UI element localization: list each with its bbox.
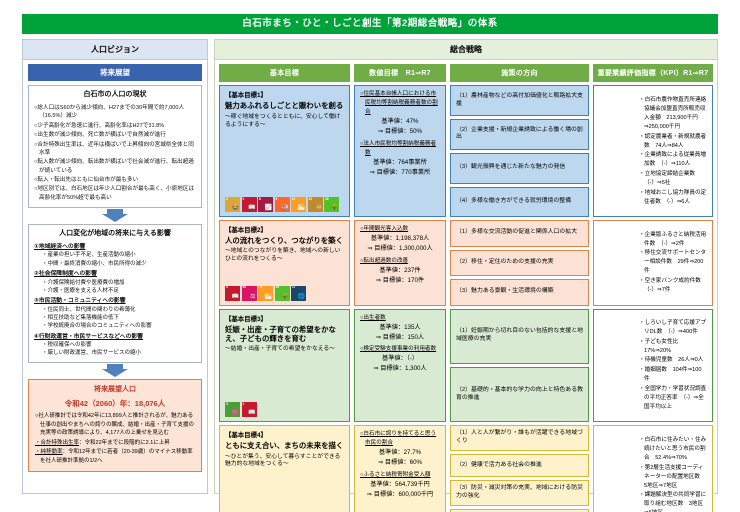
numeric-target-cell[interactable]: ○年間観光客入込数基準値：1,198,378人⇒ 目標値：1,300,000人○… (354, 220, 446, 306)
sdg-goal-11-icon: 11🏙 (258, 286, 273, 301)
kpi-cell[interactable]: ・企業版ふるさと納税活用件数 （-）⇒2件・移住交流サポートセンター相談件数 2… (593, 220, 713, 306)
sdg-icon-row: 2🍲4📖8📈9🏭11🏙12♾15🌳 (225, 197, 344, 212)
sdg-glyph: 🌐 (298, 294, 305, 300)
sdg-number: 10 (243, 286, 247, 289)
numeric-target-item: ○年間観光客入込数基準値：1,198,378人⇒ 目標値：1,300,000人 (360, 225, 440, 254)
numeric-target-label: ○法人市民税均等割納税義務者数 (360, 140, 440, 158)
impact-section-item: ・厳しい財政運営、市民サービスの縮小 (34, 349, 196, 357)
kpi-item: ・企業誘致による従業員増加数 （-）⇒110人 (639, 151, 707, 169)
impact-section-head: ③市民活動・コミュニティへの影響 (34, 297, 196, 306)
population-vision-column: 人口ビジョン 将来展望 白石市の人口の現状 ○総人口はS60から減少傾向、H27… (22, 39, 208, 494)
sdg-glyph: 🏙 (297, 205, 305, 211)
basic-goal-subtitle: ～稼ぐ地域をつくるとともに、安心して働けるようにする～ (225, 114, 344, 130)
comprehensive-strategy-column: 総合戦略 基本目標 数値目標 R1⇒R7 施策の方向 重要業績評価指標（KPI）… (214, 39, 718, 494)
basic-goal-cell[interactable]: 【基本目標1】魅力あふれるしごとと賑わいを創る～稼ぐ地域をつくるとともに、安心し… (219, 85, 350, 217)
basic-goal-title: ともに支え合い、まちの未来を描く (225, 441, 344, 450)
document-page: 白石市まち・ひと・しごと創生「第2期総合戦略」の体系 人口ビジョン 将来展望 白… (0, 0, 740, 512)
sdg-number: 8 (259, 198, 261, 201)
current-population-item: ○出生数が減少傾向、死亡数が横ばいで自然減が進行 (34, 131, 196, 139)
kpi-item: ・空き家バンク成約件数 （-）⇒7件 (639, 277, 707, 295)
population-vision-header: 人口ビジョン (23, 40, 207, 60)
sdg-number: 4 (243, 198, 245, 201)
numeric-target-baseline: 基準値：764事業所 (360, 158, 440, 168)
sdg-goal-10-icon: 10⚖ (242, 286, 257, 301)
policy-direction-item[interactable]: （1）多様な交流活動の促進と関係人口の拡大 (450, 220, 589, 247)
kpi-item: ・立地協定締結企業数 （-）⇒5社 (639, 170, 707, 188)
current-population-title: 白石市の人口の現状 (34, 90, 196, 101)
sdg-glyph: 🍲 (232, 205, 239, 211)
sdg-number: 4 (226, 286, 228, 289)
sdg-goal-12-icon: 12♾ (308, 197, 323, 212)
sdg-icon-row: 4📖10⚖11🏙15🌳17🌐 (225, 286, 344, 301)
future-population-value: 令和42（2060）年：18,076人 (35, 398, 195, 410)
sdg-glyph: 🏭 (281, 205, 288, 211)
sdg-glyph: 🌳 (331, 205, 338, 211)
current-population-panel: 白石市の人口の現状 ○総人口はS60から減少傾向、H27までの30年間で約7,0… (28, 85, 202, 208)
sdg-icon-row: 3💓4📖 (225, 402, 344, 417)
impact-section-head: ④行財政運営・市民サービスなどへの影響 (34, 333, 196, 342)
basic-goal-title: 魅力あふれるしごとと賑わいを創る (225, 101, 344, 110)
kpi-item: ・移住交流サポートセンター相談件数 29件⇒200件 (639, 249, 707, 276)
numeric-target-label: ○検定受験支援事業の利用者数 (360, 345, 440, 354)
basic-goal-number: 【基本目標3】 (225, 314, 344, 323)
kpi-item: ・子ども女性比 17%⇒20% (639, 338, 707, 356)
numeric-target-goal: ⇒ 目標値：170件 (360, 276, 440, 286)
policy-direction-item[interactable]: （3）観光振興を通じた新たな魅力の発信 (450, 153, 589, 184)
kpi-item: ・白石市農作物直売所連絡協議会加盟直売所販売収入金額 213,900千円⇒250… (639, 96, 707, 132)
impact-title: 人口変化が地域の将来に与える影響 (34, 229, 196, 240)
numeric-target-baseline: 基準値：27.7% (360, 448, 440, 458)
future-note-text: ：令和12年までに若者（20-39歳）のマイナス移動率を社人研推計準拠の1/2へ (40, 449, 193, 464)
basic-goal-cell[interactable]: 【基本目標4】ともに支え合い、まちの未来を描く～ひとが集う、安心して暮らすことが… (219, 425, 350, 512)
policy-direction-cell: （1）妊娠期から切れ目のない包括的な支援と地域医療の充実（2）基礎的・基本的な学… (450, 309, 589, 423)
numeric-target-label: ○ふるさと納税寄附金受入額 (360, 471, 440, 480)
kpi-item: ・白石市に住みたい・住み続けたいと思う市民の割合 52.4%⇒70% (639, 436, 707, 463)
policy-direction-item[interactable]: （2）健康で活力ある社会の推進 (450, 454, 589, 477)
impact-sections: ①地域経済への影響・産業の担い手不足、生産活動の縮小・中間・最終消費の縮小、市民… (34, 243, 196, 358)
strategy-column-headers: 基本目標 数値目標 R1⇒R7 施策の方向 重要業績評価指標（KPI）R1⇒R7 (215, 60, 717, 85)
numeric-target-goal: ⇒ 目標値：600,000千円 (360, 490, 440, 500)
sdg-number: 12 (309, 198, 313, 201)
sdg-goal-15-icon: 15🌳 (275, 286, 290, 301)
numeric-target-item: ○法人市民税均等割納税義務者数基準値：764事業所⇒ 目標値：770事業所 (360, 140, 440, 178)
policy-direction-item[interactable]: （3）魅力ある景観・生活環境の構築 (450, 279, 589, 306)
future-population-items: ○社人研推計では令和42年に13,899人と推計されるが、魅力ある仕事の創出やま… (35, 412, 195, 438)
policy-direction-cell: （1）人と人が繋がり・誰もが活躍できる地域づくり（2）健康で活力ある社会の推進（… (450, 425, 589, 512)
impact-section: ①地域経済への影響・産業の担い手不足、生産活動の縮小・中間・最終消費の縮小、市民… (34, 243, 196, 268)
basic-goal-subtitle: ～ひとが集う、安心して暮らすことができる魅力的な地域をつくる～ (225, 454, 344, 470)
sdg-glyph: ♾ (316, 205, 321, 211)
numeric-target-cell[interactable]: ○住民基本台帳人口における市民税均等割納税義務者数の割合基準値：47%⇒ 目標値… (354, 85, 446, 217)
basic-goal-cell[interactable]: 【基本目標2】人の流れをつくり、つながりを築く～地域とのつながりを築き、地域への… (219, 220, 350, 306)
column-header-kpi: 重要業績評価指標（KPI）R1⇒R7 (593, 64, 713, 82)
future-population-item: ○社人研推計では令和42年に13,899人と推計されるが、魅力ある仕事の創出やま… (35, 412, 195, 438)
impact-section: ④行財政運営・市民サービスなどへの影響・税収確保への影響・厳しい財政運営、市民サ… (34, 333, 196, 358)
strategy-row: 【基本目標2】人の流れをつくり、つながりを築く～地域とのつながりを築き、地域への… (219, 220, 713, 306)
numeric-target-item: ○白石市に誇りを持てると思う市民の割合基準値：27.7%⇒ 目標値：60% (360, 430, 440, 468)
numeric-target-item: ○出生者数基準値：135人⇒ 目標値：150人 (360, 314, 440, 343)
numeric-target-baseline: 基準値：47% (360, 117, 440, 127)
sdg-goal-4-icon: 4📖 (242, 402, 257, 417)
future-note-label: ・純移動率 (35, 449, 63, 455)
basic-goal-number: 【基本目標4】 (225, 430, 344, 439)
sdg-goal-17-icon: 17🌐 (291, 286, 306, 301)
policy-direction-item[interactable]: （1）妊娠期から切れ目のない包括的な支援と地域医療の充実 (450, 309, 589, 364)
basic-goal-title: 妊娠・出産・子育ての希望をかなえ、子どもの輝きを育む (225, 325, 344, 344)
kpi-item: ・全国学力・学習状況調査の平均正答率 （-）⇒全国平均以上 (639, 385, 707, 412)
future-note-label: ・合計特殊出生率 (35, 440, 79, 446)
policy-direction-item[interactable]: （2）企業支援・新規企業誘致による働く場の創出 (450, 119, 589, 150)
impact-section-item: ・産業の担い手不足、生産活動の縮小 (34, 251, 196, 259)
kpi-list: ・しろいし子育て応援アプリDL数 （-）⇒400件・子ども女性比 17%⇒20%… (599, 319, 707, 411)
policy-direction-item[interactable]: （2）移住・定住のための支援の充実 (450, 250, 589, 277)
numeric-target-cell[interactable]: ○白石市に誇りを持てると思う市民の割合基準値：27.7%⇒ 目標値：60%○ふる… (354, 425, 446, 512)
impact-section-item: ・学校統廃合の場合のコミュニティへの影響 (34, 322, 196, 330)
future-population-panel: 将来展望人口 令和42（2060）年：18,076人 ○社人研推計では令和42年… (28, 379, 202, 473)
policy-direction-item[interactable]: （3）防災・減災対策の充実、地域における防災力の強化 (450, 480, 589, 506)
future-population-note: ・合計特殊出生率：令和22年までに段階的に2.1に上昇 (35, 439, 195, 448)
flow-arrow-1 (28, 208, 202, 224)
basic-goal-subtitle: ～地域とのつながりを築き、地域への新しいひとの流れをつくる～ (225, 248, 344, 264)
numeric-target-baseline: 基準値：237件 (360, 266, 440, 276)
kpi-list: ・白石市農作物直売所連絡協議会加盟直売所販売収入金額 213,900千円⇒250… (599, 96, 707, 207)
sdg-number: 2 (226, 198, 228, 201)
policy-direction-item[interactable]: （1）人と人が繋がり・誰もが活躍できる地域づくり (450, 425, 589, 451)
future-population-note: ・純移動率：令和12年までに若者（20-39歳）のマイナス移動率を社人研推計準拠… (35, 448, 195, 465)
strategy-row: 【基本目標4】ともに支え合い、まちの未来を描く～ひとが集う、安心して暮らすことが… (219, 425, 713, 512)
sdg-goal-9-icon: 9🏭 (275, 197, 290, 212)
sdg-glyph: 📈 (265, 205, 272, 211)
sdg-goal-15-icon: 15🌳 (324, 197, 339, 212)
sdg-number: 11 (259, 286, 262, 289)
numeric-target-label: ○出生者数 (360, 314, 440, 323)
impact-section: ③市民活動・コミュニティへの影響・住民同士、世代間の関わりの希薄化・相互扶助など… (34, 297, 196, 330)
sdg-goal-4-icon: 4📖 (225, 286, 240, 301)
impact-section-item: ・相互扶助など集落機能の低下 (34, 314, 196, 322)
content-shell: 人口ビジョン 将来展望 白石市の人口の現状 ○総人口はS60から減少傾向、H27… (22, 39, 718, 494)
strategy-row: 【基本目標3】妊娠・出産・子育ての希望をかなえ、子どもの輝きを育む～結婚・出産・… (219, 309, 713, 423)
sdg-glyph: 🏙 (264, 294, 272, 300)
numeric-target-baseline: 基準値：135人 (360, 323, 440, 333)
kpi-cell[interactable]: ・白石市農作物直売所連絡協議会加盟直売所販売収入金額 213,900千円⇒250… (593, 85, 713, 217)
basic-goal-subtitle: ～結婚・出産・子育ての希望をかなえる～ (225, 346, 344, 354)
numeric-target-baseline: 基準値：564,739千円 (360, 480, 440, 490)
kpi-cell[interactable]: ・白石市に住みたい・住み続けたいと思う市民の割合 52.4%⇒70%・第2層生活… (593, 425, 713, 512)
strategy-row: 【基本目標1】魅力あふれるしごとと賑わいを創る～稼ぐ地域をつくるとともに、安心し… (219, 85, 713, 217)
kpi-item: ・企業版ふるさと納税活用件数 （-）⇒2件 (639, 231, 707, 249)
sdg-glyph: 📖 (232, 294, 239, 300)
numeric-target-label: ○転出超過数の改善 (360, 257, 440, 266)
basic-goal-number: 【基本目標1】 (225, 90, 344, 99)
sdg-number: 15 (276, 286, 280, 289)
sdg-number: 9 (276, 198, 278, 201)
numeric-target-goal: ⇒ 目標値：1,300人 (360, 364, 440, 374)
sdg-glyph: 📖 (248, 205, 255, 211)
kpi-item: ・地域おこし協力隊員の定住者数 （-）⇒6人 (639, 189, 707, 207)
page-title: 白石市まち・ひと・しごと創生「第2期総合戦略」の体系 (22, 14, 718, 34)
comprehensive-strategy-header: 総合戦略 (215, 40, 717, 60)
impact-section-item: ・税収確保への影響 (34, 341, 196, 349)
kpi-item: ・婚姻届数 104件⇒100件 (639, 366, 707, 384)
sdg-goal-11-icon: 11🏙 (291, 197, 306, 212)
current-population-item: ○転入・転出先はともに仙台市が最も多い (34, 176, 196, 184)
numeric-target-item: ○転出超過数の改善基準値：237件⇒ 目標値：170件 (360, 257, 440, 286)
numeric-target-goal: ⇒ 目標値：770事業所 (360, 168, 440, 178)
numeric-target-item: ○検定受験支援事業の利用者数基準値：（-）⇒ 目標値：1,300人 (360, 345, 440, 374)
numeric-target-goal: ⇒ 目標値：150人 (360, 333, 440, 343)
sdg-glyph: 💓 (232, 410, 239, 416)
numeric-target-goal: ⇒ 目標値：60% (360, 458, 440, 468)
numeric-target-label: ○白石市に誇りを持てると思う市民の割合 (360, 430, 440, 448)
kpi-list: ・白石市に住みたい・住み続けたいと思う市民の割合 52.4%⇒70%・第2層生活… (599, 436, 707, 512)
sdg-number: 3 (226, 403, 228, 406)
sdg-glyph: 🌳 (281, 294, 288, 300)
sdg-goal-8-icon: 8📈 (258, 197, 273, 212)
sdg-glyph: 📖 (248, 410, 255, 416)
population-vision-body: 将来展望 白石市の人口の現状 ○総人口はS60から減少傾向、H27までの30年間… (23, 60, 207, 493)
column-header-numeric-target: 数値目標 R1⇒R7 (354, 64, 446, 82)
sdg-number: 11 (292, 198, 295, 201)
basic-goal-cell[interactable]: 【基本目標3】妊娠・出産・子育ての希望をかなえ、子どもの輝きを育む～結婚・出産・… (219, 309, 350, 423)
numeric-target-cell[interactable]: ○出生者数基準値：135人⇒ 目標値：150人○検定受験支援事業の利用者数基準値… (354, 309, 446, 423)
numeric-target-item: ○ふるさと納税寄附金受入額基準値：564,739千円⇒ 目標値：600,000千… (360, 471, 440, 500)
current-population-item: ○少子高齢化が急速に進行、高齢化率はH27で31.8% (34, 122, 196, 130)
numeric-target-baseline: 基準値：1,198,378人 (360, 234, 440, 244)
future-outlook-bar: 将来展望 (28, 64, 202, 81)
kpi-list: ・企業版ふるさと納税活用件数 （-）⇒2件・移住交流サポートセンター相談件数 2… (599, 231, 707, 295)
sdg-number: 15 (325, 198, 329, 201)
numeric-target-item: ○住民基本台帳人口における市民税均等割納税義務者数の割合基準値：47%⇒ 目標値… (360, 90, 440, 137)
impact-section-item: ・介護保険給付費や医療費の増加 (34, 279, 196, 287)
strategy-rows: 【基本目標1】魅力あふれるしごとと賑わいを創る～稼ぐ地域をつくるとともに、安心し… (215, 85, 717, 512)
sdg-number: 4 (243, 403, 245, 406)
column-header-basic-goal: 基本目標 (219, 64, 350, 82)
current-population-list: ○総人口はS60から減少傾向、H27までの30年間で約7,000人（16.5%）… (34, 104, 196, 202)
policy-direction-cell: （1）農林産物などの高付加価値化と販路拡大支援（2）企業支援・新規企業誘致による… (450, 85, 589, 217)
kpi-item: ・待機児童数 26人⇒0人 (639, 356, 707, 365)
column-header-policy-direction: 施策の方向 (450, 64, 589, 82)
sdg-goal-4-icon: 4📖 (242, 197, 257, 212)
numeric-target-label: ○年間観光客入込数 (360, 225, 440, 234)
numeric-target-goal: ⇒ 目標値：1,300,000人 (360, 244, 440, 254)
numeric-target-baseline: 基準値：（-） (360, 354, 440, 364)
kpi-item: ・課題解決型の共同学習に取り組む地区数 3地区⇒6地区 (639, 491, 707, 512)
policy-direction-cell: （1）多様な交流活動の促進と関係人口の拡大（2）移住・定住のための支援の充実（3… (450, 220, 589, 306)
basic-goal-number: 【基本目標2】 (225, 225, 344, 234)
current-population-item: ○合計特殊出生率は、近年は横ばいで上昇傾向の宮城県全体と同水準 (34, 141, 196, 158)
impact-section: ②社会保障制度への影響・介護保険給付費や医療費の増加・介護・医療を支える人材不足 (34, 270, 196, 295)
future-population-notes: ・合計特殊出生率：令和22年までに段階的に2.1に上昇・純移動率：令和12年まで… (35, 439, 195, 466)
impact-section-item: ・介護・医療を支える人材不足 (34, 287, 196, 295)
policy-direction-item[interactable]: （2）基礎的・基本的な学力の向上と特色ある教育の推進 (450, 367, 589, 422)
policy-direction-item[interactable]: （4）多様な働き方ができる就労環境の整備 (450, 187, 589, 218)
sdg-glyph: ⚖ (250, 294, 255, 300)
impact-panel: 人口変化が地域の将来に与える影響 ①地域経済への影響・産業の担い手不足、生産活動… (28, 224, 202, 363)
impact-section-head: ②社会保障制度への影響 (34, 270, 196, 279)
numeric-target-label: ○住民基本台帳人口における市民税均等割納税義務者数の割合 (360, 90, 440, 117)
numeric-target-goal: ⇒ 目標値：50% (360, 127, 440, 137)
sdg-goal-3-icon: 3💓 (225, 402, 240, 417)
future-population-title: 将来展望人口 (35, 385, 195, 396)
basic-goal-title: 人の流れをつくり、つながりを築く (225, 236, 344, 245)
impact-section-item: ・中間・最終消費の縮小、市民所得の減少 (34, 260, 196, 268)
current-population-item: ○転入数が減少傾向、転出数が横ばいで社会減が進行、転出超過が続いている (34, 158, 196, 175)
flow-arrow-2 (28, 363, 202, 379)
current-population-item: ○地区別では、白石地区は年少人口割合が最も高く、小原地区は高齢化率が50%超で最… (34, 185, 196, 202)
kpi-cell[interactable]: ・しろいし子育て応援アプリDL数 （-）⇒400件・子ども女性比 17%⇒20%… (593, 309, 713, 423)
kpi-item: ・認定農業者・新規就農者数 74人⇒84人 (639, 133, 707, 151)
sdg-goal-2-icon: 2🍲 (225, 197, 240, 212)
impact-section-head: ①地域経済への影響 (34, 243, 196, 252)
kpi-item: ・しろいし子育て応援アプリDL数 （-）⇒400件 (639, 319, 707, 337)
sdg-number: 17 (292, 286, 296, 289)
current-population-item: ○総人口はS60から減少傾向、H27までの30年間で約7,000人（16.5%）… (34, 104, 196, 121)
future-note-text: ：令和22年までに段階的に2.1に上昇 (79, 440, 170, 446)
kpi-item: ・第2層生活支援コーディネーターの配置地区数 5地区⇒7地区 (639, 464, 707, 491)
policy-direction-item[interactable]: （1）農林産物などの高付加価値化と販路拡大支援 (450, 85, 589, 116)
impact-section-item: ・住民同士、世代間の関わりの希薄化 (34, 306, 196, 314)
